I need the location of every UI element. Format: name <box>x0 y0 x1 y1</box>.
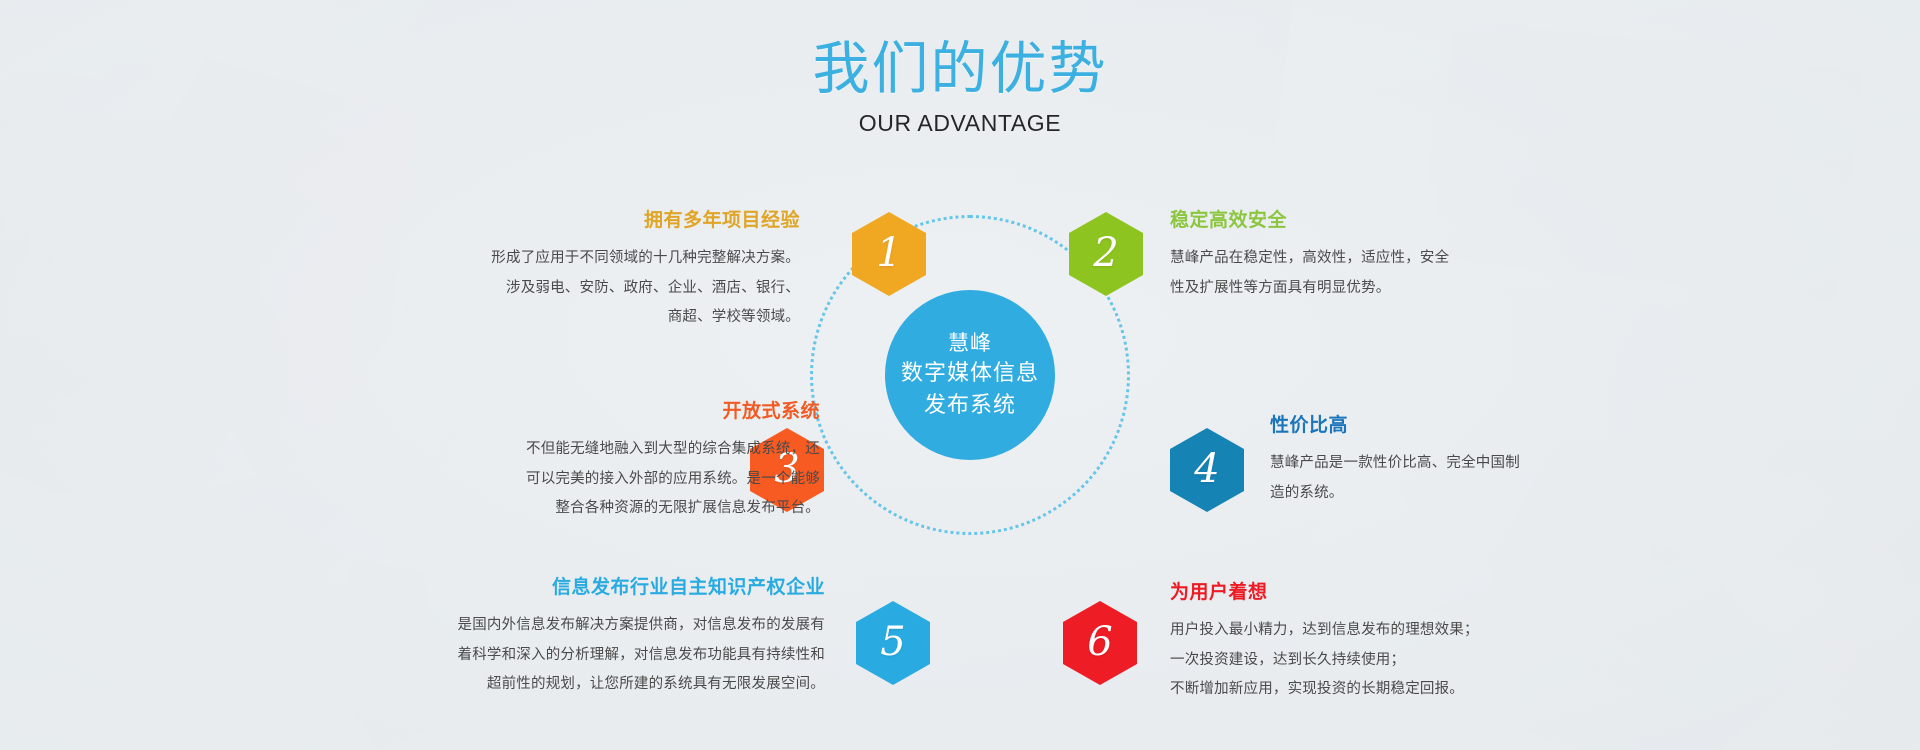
advantage-heading-6: 为用户着想 <box>1170 577 1630 604</box>
advantage-item-3: 开放式系统 不但能无缝地融入到大型的综合集成系统，还 可以完美的接入外部的应用系… <box>330 396 820 524</box>
advantage-body-3: 不但能无缝地融入到大型的综合集成系统，还 可以完美的接入外部的应用系统。是一个能… <box>330 435 820 524</box>
page-subtitle: OUR ADVANTAGE <box>0 110 1920 137</box>
advantage-body-4-line-2: 造的系统。 <box>1270 485 1344 501</box>
advantage-body-5: 是国内外信息发布解决方案提供商，对信息发布的发展有 着科学和深入的分析理解，对信… <box>330 611 825 700</box>
advantage-body-5-line-3: 超前性的规划，让您所建的系统具有无限发展空间。 <box>487 676 825 692</box>
advantage-body-1-line-2: 涉及弱电、安防、政府、企业、酒店、银行、 <box>506 280 800 296</box>
advantage-heading-1: 拥有多年项目经验 <box>430 205 800 232</box>
advantage-heading-5: 信息发布行业自主知识产权企业 <box>330 572 825 599</box>
advantage-item-1: 拥有多年项目经验 形成了应用于不同领域的十几种完整解决方案。 涉及弱电、安防、政… <box>430 205 800 333</box>
advantage-body-2: 慧峰产品在稳定性，高效性，适应性，安全 性及扩展性等方面具有明显优势。 <box>1170 244 1570 303</box>
hex-number-5: 5 <box>880 619 905 665</box>
advantage-body-3-line-1: 不但能无缝地融入到大型的综合集成系统，还 <box>526 441 820 457</box>
center-line-2: 数字媒体信息 <box>901 358 1039 390</box>
page-title: 我们的优势 <box>0 40 1920 100</box>
advantage-body-2-line-1: 慧峰产品在稳定性，高效性，适应性，安全 <box>1170 250 1449 266</box>
advantage-body-5-line-2: 着科学和深入的分析理解，对信息发布功能具有持续性和 <box>458 647 826 663</box>
advantage-body-4: 慧峰产品是一款性价比高、完全中国制 造的系统。 <box>1270 449 1670 508</box>
advantage-body-6-line-2: 一次投资建设，达到长久持续使用； <box>1170 652 1405 668</box>
advantage-body-3-line-3: 整合各种资源的无限扩展信息发布平台。 <box>555 500 820 516</box>
advantage-body-5-line-1: 是国内外信息发布解决方案提供商，对信息发布的发展有 <box>458 617 826 633</box>
hex-badge-5[interactable]: 5 <box>856 601 930 685</box>
hex-number-1: 1 <box>876 230 901 276</box>
advantage-body-2-line-2: 性及扩展性等方面具有明显优势。 <box>1170 280 1391 296</box>
advantage-item-4: 性价比高 慧峰产品是一款性价比高、完全中国制 造的系统。 <box>1270 410 1670 508</box>
advantage-body-1-line-1: 形成了应用于不同领域的十几种完整解决方案。 <box>491 250 800 266</box>
advantage-body-6-line-1: 用户投入最小精力，达到信息发布的理想效果； <box>1170 622 1479 638</box>
hex-number-4: 4 <box>1194 446 1219 492</box>
center-line-3: 发布系统 <box>924 390 1016 422</box>
advantage-heading-3: 开放式系统 <box>330 396 820 423</box>
advantage-infographic: 我们的优势 OUR ADVANTAGE 慧峰 数字媒体信息 发布系统 1 2 3… <box>0 0 1920 750</box>
hex-badge-6[interactable]: 6 <box>1063 601 1137 685</box>
advantage-body-4-line-1: 慧峰产品是一款性价比高、完全中国制 <box>1270 455 1520 471</box>
advantage-item-6: 为用户着想 用户投入最小精力，达到信息发布的理想效果； 一次投资建设，达到长久持… <box>1170 577 1630 705</box>
center-circle: 慧峰 数字媒体信息 发布系统 <box>885 290 1055 460</box>
hex-number-2: 2 <box>1093 230 1118 276</box>
advantage-body-1: 形成了应用于不同领域的十几种完整解决方案。 涉及弱电、安防、政府、企业、酒店、银… <box>430 244 800 333</box>
advantage-body-6: 用户投入最小精力，达到信息发布的理想效果； 一次投资建设，达到长久持续使用； 不… <box>1170 616 1630 705</box>
page-header: 我们的优势 OUR ADVANTAGE <box>0 40 1920 137</box>
advantage-heading-4: 性价比高 <box>1270 410 1670 437</box>
advantage-body-1-line-3: 商超、学校等领域。 <box>668 309 800 325</box>
advantage-body-3-line-2: 可以完美的接入外部的应用系统。是一个能够 <box>526 471 820 487</box>
advantage-heading-2: 稳定高效安全 <box>1170 205 1570 232</box>
center-line-1: 慧峰 <box>948 328 992 358</box>
advantage-item-5: 信息发布行业自主知识产权企业 是国内外信息发布解决方案提供商，对信息发布的发展有… <box>330 572 825 700</box>
advantage-body-6-line-3: 不断增加新应用，实现投资的长期稳定回报。 <box>1170 681 1464 697</box>
hex-number-6: 6 <box>1087 619 1112 665</box>
hex-badge-4[interactable]: 4 <box>1170 428 1244 512</box>
advantage-item-2: 稳定高效安全 慧峰产品在稳定性，高效性，适应性，安全 性及扩展性等方面具有明显优… <box>1170 205 1570 303</box>
